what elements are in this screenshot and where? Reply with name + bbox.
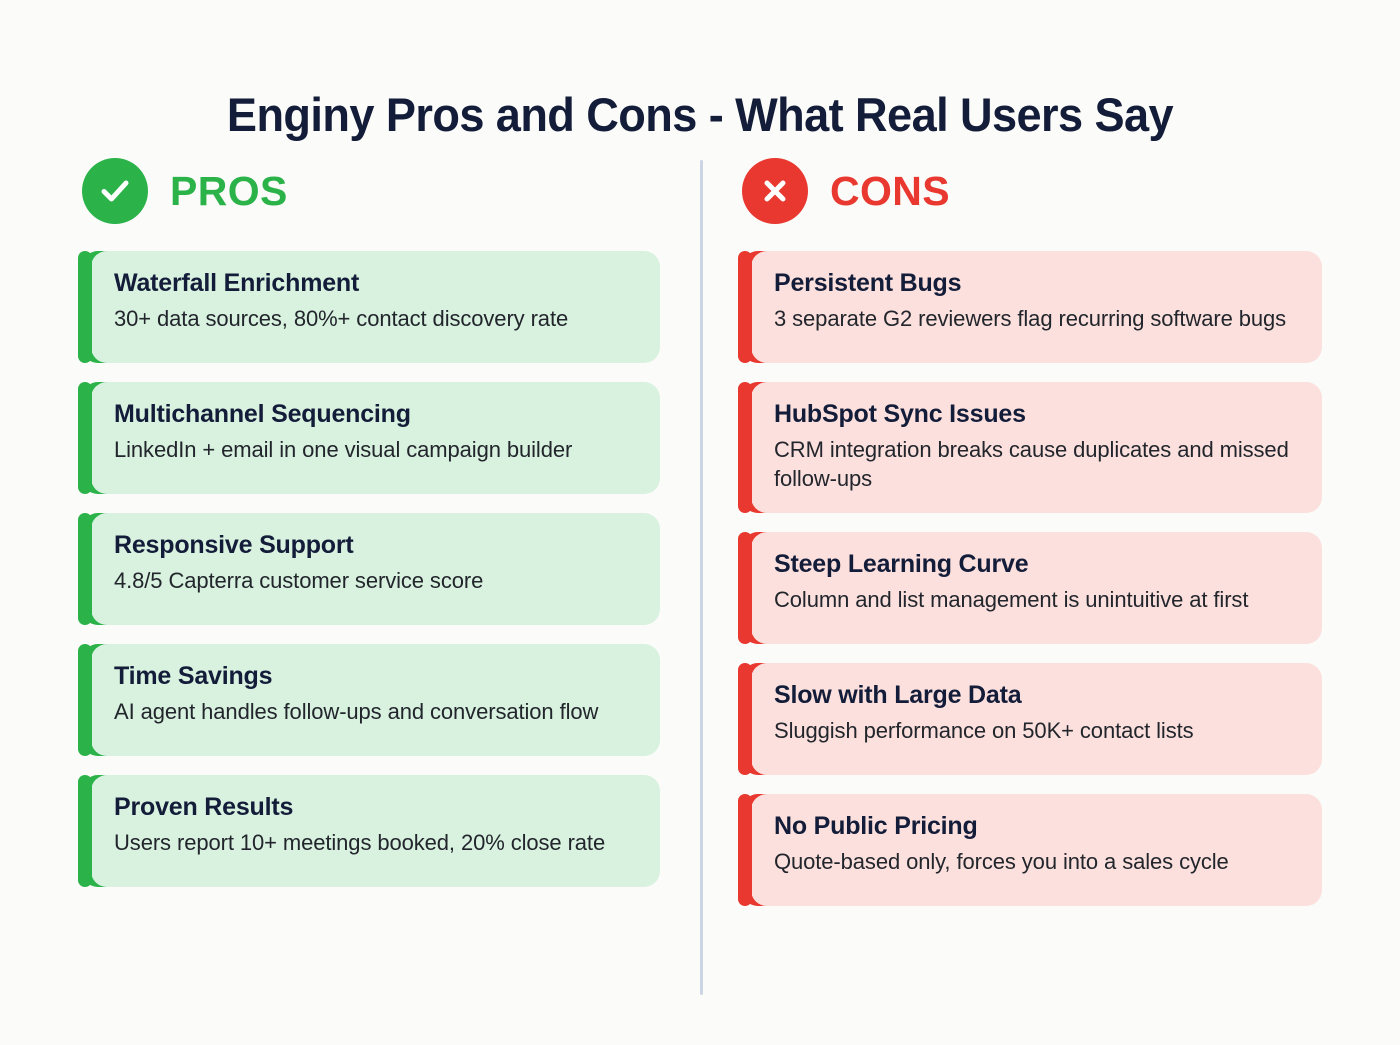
card-description: LinkedIn + email in one visual campaign …: [114, 435, 638, 464]
cons-card[interactable]: Persistent Bugs 3 separate G2 reviewers …: [742, 251, 1322, 363]
card-description: 3 separate G2 reviewers flag recurring s…: [774, 304, 1300, 333]
card-title: Steep Learning Curve: [774, 550, 1300, 579]
card-title: Multichannel Sequencing: [114, 400, 638, 429]
card-title: Time Savings: [114, 662, 638, 691]
cons-card[interactable]: HubSpot Sync Issues CRM integration brea…: [742, 382, 1322, 513]
pros-heading-label: PROS: [170, 168, 288, 215]
pros-cons-infographic: Enginy Pros and Cons - What Real Users S…: [0, 0, 1400, 1045]
pros-heading: PROS: [82, 155, 660, 227]
card-title: Responsive Support: [114, 531, 638, 560]
pros-card[interactable]: Time Savings AI agent handles follow-ups…: [82, 644, 660, 756]
card-description: Quote-based only, forces you into a sale…: [774, 847, 1300, 876]
card-description: Users report 10+ meetings booked, 20% cl…: [114, 828, 638, 857]
cons-card[interactable]: Steep Learning Curve Column and list man…: [742, 532, 1322, 644]
x-circle-icon: [742, 158, 808, 224]
columns-container: PROS Waterfall Enrichment 30+ data sourc…: [0, 155, 1400, 925]
pros-card[interactable]: Proven Results Users report 10+ meetings…: [82, 775, 660, 887]
page-title: Enginy Pros and Cons - What Real Users S…: [28, 87, 1372, 142]
cons-column: CONS Persistent Bugs 3 separate G2 revie…: [700, 155, 1400, 925]
pros-card[interactable]: Responsive Support 4.8/5 Capterra custom…: [82, 513, 660, 625]
card-title: Persistent Bugs: [774, 269, 1300, 298]
card-title: Slow with Large Data: [774, 681, 1300, 710]
cons-heading-label: CONS: [830, 168, 950, 215]
card-description: AI agent handles follow-ups and conversa…: [114, 697, 638, 726]
card-title: No Public Pricing: [774, 812, 1300, 841]
card-description: Sluggish performance on 50K+ contact lis…: [774, 716, 1300, 745]
pros-column: PROS Waterfall Enrichment 30+ data sourc…: [0, 155, 700, 906]
cons-card[interactable]: No Public Pricing Quote-based only, forc…: [742, 794, 1322, 906]
cons-card[interactable]: Slow with Large Data Sluggish performanc…: [742, 663, 1322, 775]
card-description: CRM integration breaks cause duplicates …: [774, 435, 1300, 494]
card-description: 4.8/5 Capterra customer service score: [114, 566, 638, 595]
card-description: 30+ data sources, 80%+ contact discovery…: [114, 304, 638, 333]
pros-card[interactable]: Multichannel Sequencing LinkedIn + email…: [82, 382, 660, 494]
card-description: Column and list management is unintuitiv…: [774, 585, 1300, 614]
check-circle-icon: [82, 158, 148, 224]
card-title: HubSpot Sync Issues: [774, 400, 1300, 429]
pros-card[interactable]: Waterfall Enrichment 30+ data sources, 8…: [82, 251, 660, 363]
cons-heading: CONS: [742, 155, 1322, 227]
card-title: Waterfall Enrichment: [114, 269, 638, 298]
card-title: Proven Results: [114, 793, 638, 822]
